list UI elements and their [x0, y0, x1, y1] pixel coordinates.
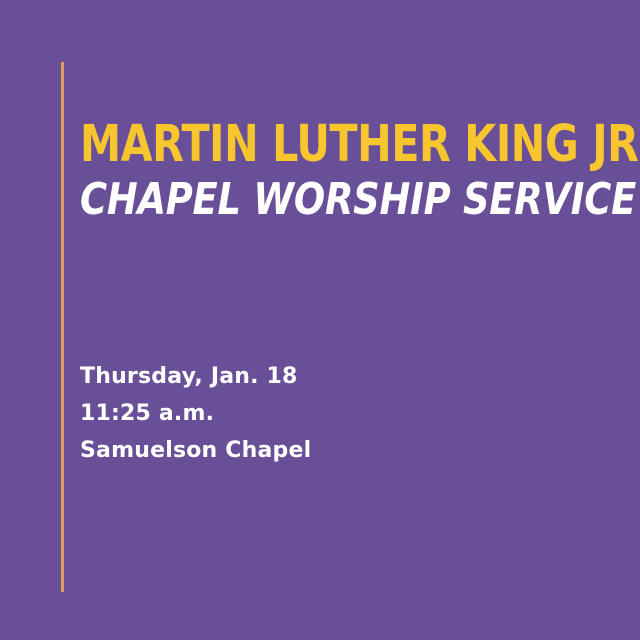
event-title-secondary: CHAPEL WORSHIP SERVICE — [80, 174, 582, 226]
headline-block: MARTIN LUTHER KING JR. CHAPEL WORSHIP SE… — [80, 118, 620, 226]
vertical-accent-rule — [61, 62, 64, 592]
event-time: 11:25 a.m. — [80, 395, 540, 432]
event-details-block: Thursday, Jan. 18 11:25 a.m. Samuelson C… — [80, 358, 540, 469]
event-poster: MARTIN LUTHER KING JR. CHAPEL WORSHIP SE… — [0, 0, 640, 640]
event-location: Samuelson Chapel — [80, 432, 540, 469]
event-title-primary: MARTIN LUTHER KING JR. — [80, 118, 566, 172]
event-date: Thursday, Jan. 18 — [80, 358, 540, 395]
